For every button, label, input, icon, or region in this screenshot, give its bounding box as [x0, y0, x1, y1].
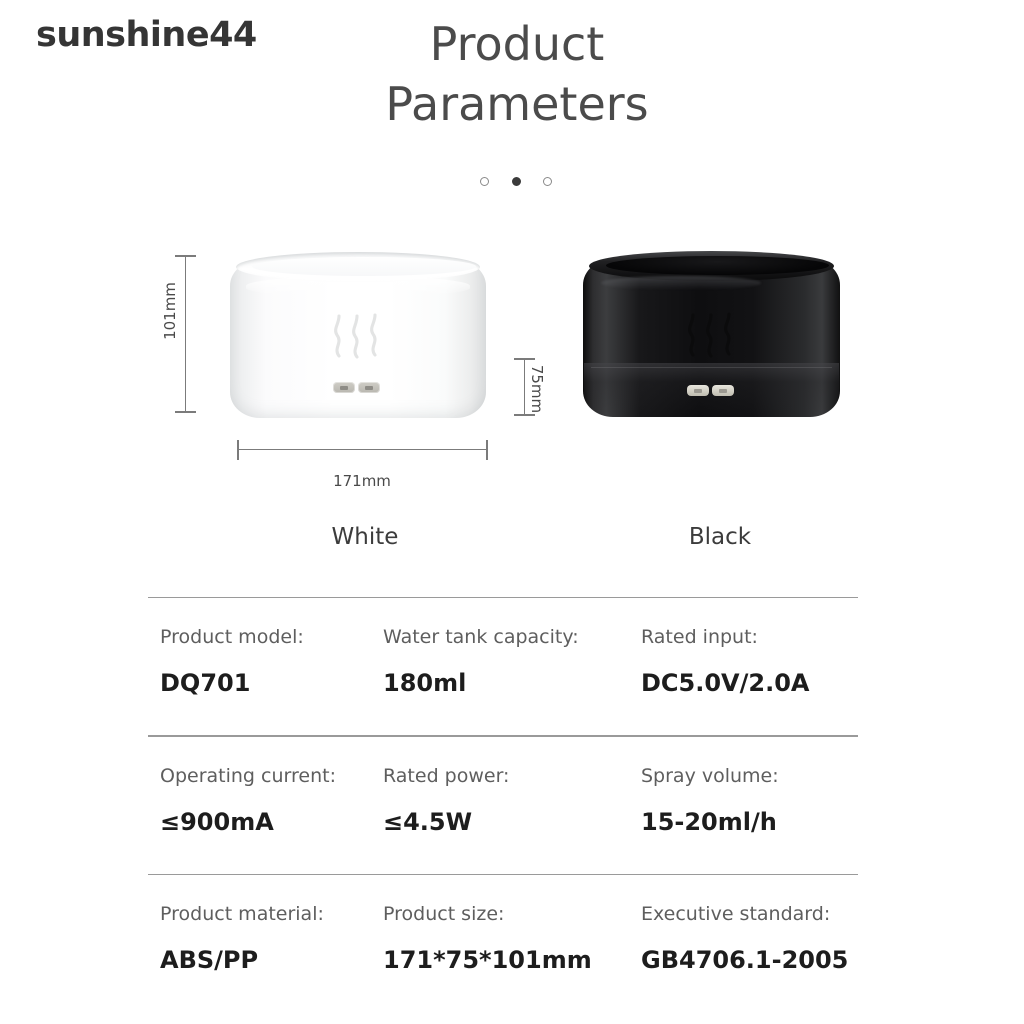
spec-value: 15-20ml/h	[641, 808, 858, 836]
depth-dimension-cap-bottom	[514, 414, 535, 416]
steam-waves-icon	[684, 309, 740, 359]
spec-cell-operating-current: Operating current: ≤900mA	[148, 765, 383, 874]
mist-button[interactable]	[712, 385, 734, 396]
spec-value: DQ701	[160, 669, 383, 697]
black-rim-opening	[606, 256, 829, 275]
spec-label: Water tank capacity:	[383, 626, 641, 648]
spec-value: 180ml	[383, 669, 641, 697]
product-gallery: 101mm 75mm 171mm White Black	[0, 0, 1024, 580]
width-dimension-cap-right	[486, 440, 488, 460]
power-button[interactable]	[687, 385, 709, 396]
spec-label: Product size:	[383, 903, 641, 925]
spec-cell-rated-power: Rated power: ≤4.5W	[383, 765, 641, 874]
color-caption-white: White	[275, 524, 455, 550]
white-rim-opening	[252, 257, 476, 276]
power-button[interactable]	[333, 382, 355, 393]
spec-value: ≤900mA	[160, 808, 383, 836]
spec-value: 171*75*101mm	[383, 946, 641, 974]
depth-dimension-label: 75mm	[528, 365, 546, 413]
spec-label: Operating current:	[160, 765, 383, 787]
spec-value: ≤4.5W	[383, 808, 641, 836]
table-row: Product model: DQ701 Water tank capacity…	[148, 598, 858, 735]
black-band-seam	[591, 367, 832, 368]
spec-label: Product model:	[160, 626, 383, 648]
spec-cell-spray-volume: Spray volume: 15-20ml/h	[641, 765, 858, 874]
black-highlight	[601, 276, 761, 290]
black-control-buttons[interactable]	[687, 385, 734, 396]
table-row: Product material: ABS/PP Product size: 1…	[148, 875, 858, 1012]
spec-label: Rated power:	[383, 765, 641, 787]
height-dimension-line	[185, 256, 186, 412]
height-dimension-label: 101mm	[161, 282, 179, 340]
width-dimension-cap-left	[237, 440, 239, 460]
table-row: Operating current: ≤900mA Rated power: ≤…	[148, 737, 858, 874]
height-dimension-cap-top	[175, 255, 196, 257]
white-highlight	[246, 276, 470, 296]
spec-cell-product-model: Product model: DQ701	[148, 626, 383, 735]
width-dimension-label: 171mm	[300, 472, 424, 490]
product-image-black	[583, 251, 840, 417]
width-dimension-line	[237, 449, 487, 450]
spec-label: Spray volume:	[641, 765, 858, 787]
product-image-white	[230, 252, 486, 418]
spec-value: ABS/PP	[160, 946, 383, 974]
mist-button[interactable]	[358, 382, 380, 393]
color-caption-black: Black	[630, 524, 810, 550]
height-dimension-cap-bottom	[175, 411, 196, 413]
spec-value: GB4706.1-2005	[641, 946, 858, 974]
spec-cell-rated-input: Rated input: DC5.0V/2.0A	[641, 626, 858, 735]
spec-label: Executive standard:	[641, 903, 858, 925]
spec-value: DC5.0V/2.0A	[641, 669, 858, 697]
spec-cell-water-tank-capacity: Water tank capacity: 180ml	[383, 626, 641, 735]
spec-label: Product material:	[160, 903, 383, 925]
specifications-table: Product model: DQ701 Water tank capacity…	[148, 597, 858, 1012]
steam-waves-icon	[330, 310, 386, 360]
spec-cell-product-material: Product material: ABS/PP	[148, 903, 383, 1012]
spec-label: Rated input:	[641, 626, 858, 648]
spec-cell-executive-standard: Executive standard: GB4706.1-2005	[641, 903, 858, 1012]
depth-dimension-line	[524, 359, 525, 415]
white-control-buttons[interactable]	[333, 382, 380, 393]
depth-dimension-cap-top	[514, 358, 535, 360]
spec-cell-product-size: Product size: 171*75*101mm	[383, 903, 641, 1012]
